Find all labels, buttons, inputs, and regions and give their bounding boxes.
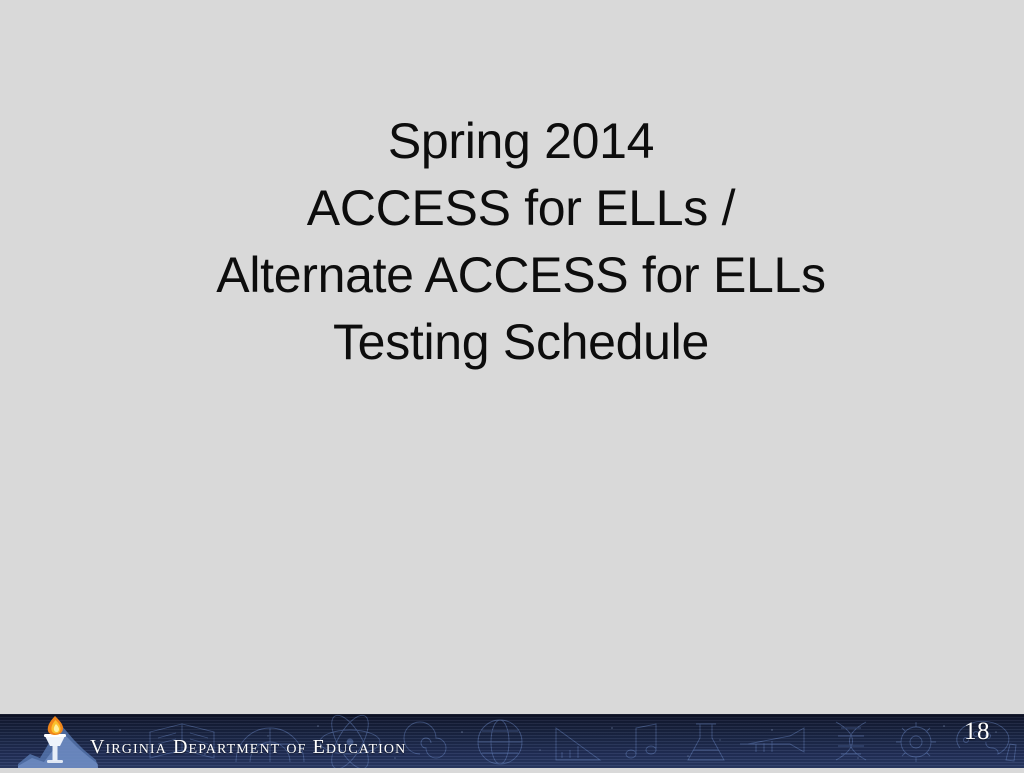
department-name: Virginia Department of Education [90,736,406,758]
slide: Spring 2014 ACCESS for ELLs / Alternate … [0,0,1024,768]
title-line-4: Testing Schedule [18,309,1024,376]
title-line-2: ACCESS for ELLs / [18,175,1024,242]
slide-title: Spring 2014 ACCESS for ELLs / Alternate … [0,108,1024,376]
virginia-doe-logo [18,714,98,768]
title-line-3: Alternate ACCESS for ELLs [18,242,1024,309]
title-line-1: Spring 2014 [18,108,1024,175]
page-number: 18 [964,718,990,746]
